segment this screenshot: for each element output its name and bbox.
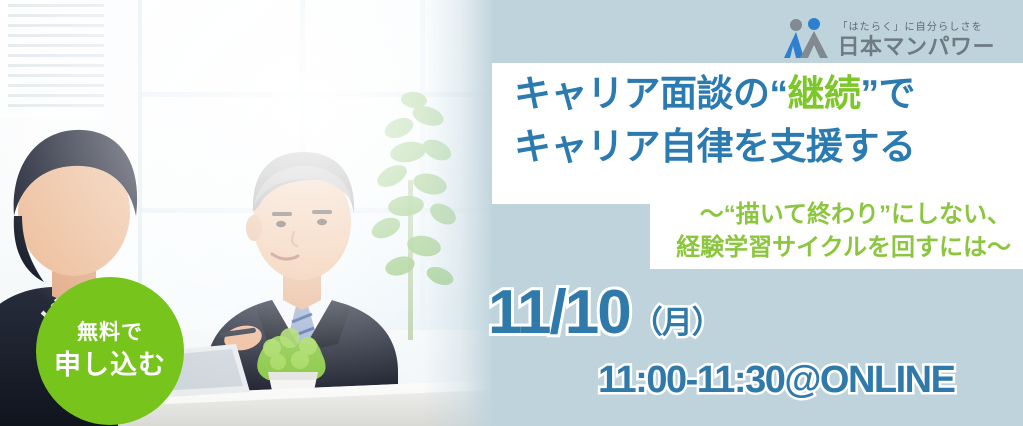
- event-date-block: 11/10 （月）: [488, 282, 722, 344]
- cta-label-line1: 無料で: [77, 321, 143, 345]
- title-quote-close: ”: [861, 73, 879, 114]
- seminar-banner: 無料で 申し込む 「はたらく」に自分らしさを 日本マンパワー キャリア面談の“継…: [0, 0, 1023, 426]
- title-line-2: キャリア自律を支援する: [492, 112, 1023, 165]
- title-quote-open: “: [770, 73, 788, 114]
- apply-free-button[interactable]: 無料で 申し込む: [36, 277, 184, 425]
- event-time-place: 11:00-11:30@ONLINE: [598, 361, 954, 399]
- title-line-1: キャリア面談の“継続”で: [492, 63, 1023, 112]
- logo-text-group: 「はたらく」に自分らしさを 日本マンパワー: [837, 23, 995, 58]
- subtitle-line-2: 経験学習サイクルを回すには〜: [492, 231, 1011, 264]
- two-people-icon: [784, 18, 830, 58]
- cta-label-line2: 申し込む: [54, 350, 166, 381]
- subtitle-line-1: 〜“描いて終わり”にしない、: [492, 198, 1011, 231]
- event-time-block: 11:00-11:30@ONLINE: [598, 361, 954, 399]
- logo-company-name: 日本マンパワー: [837, 36, 995, 58]
- company-logo: 「はたらく」に自分らしさを 日本マンパワー: [784, 18, 995, 58]
- subtitle-block: 〜“描いて終わり”にしない、 経験学習サイクルを回すには〜: [492, 198, 1023, 264]
- event-day-of-week: （月）: [632, 297, 722, 342]
- title-line1-after: で: [879, 73, 916, 114]
- title-block: キャリア面談の“継続”で キャリア自律を支援する: [492, 63, 1023, 165]
- title-line1-before: キャリア面談の: [514, 73, 770, 114]
- logo-tagline: 「はたらく」に自分らしさを: [837, 23, 995, 33]
- right-content: 「はたらく」に自分らしさを 日本マンパワー キャリア面談の“継続”で キャリア自…: [460, 0, 1023, 426]
- event-date: 11/10: [488, 282, 630, 344]
- title-accent-word: 継続: [788, 73, 861, 114]
